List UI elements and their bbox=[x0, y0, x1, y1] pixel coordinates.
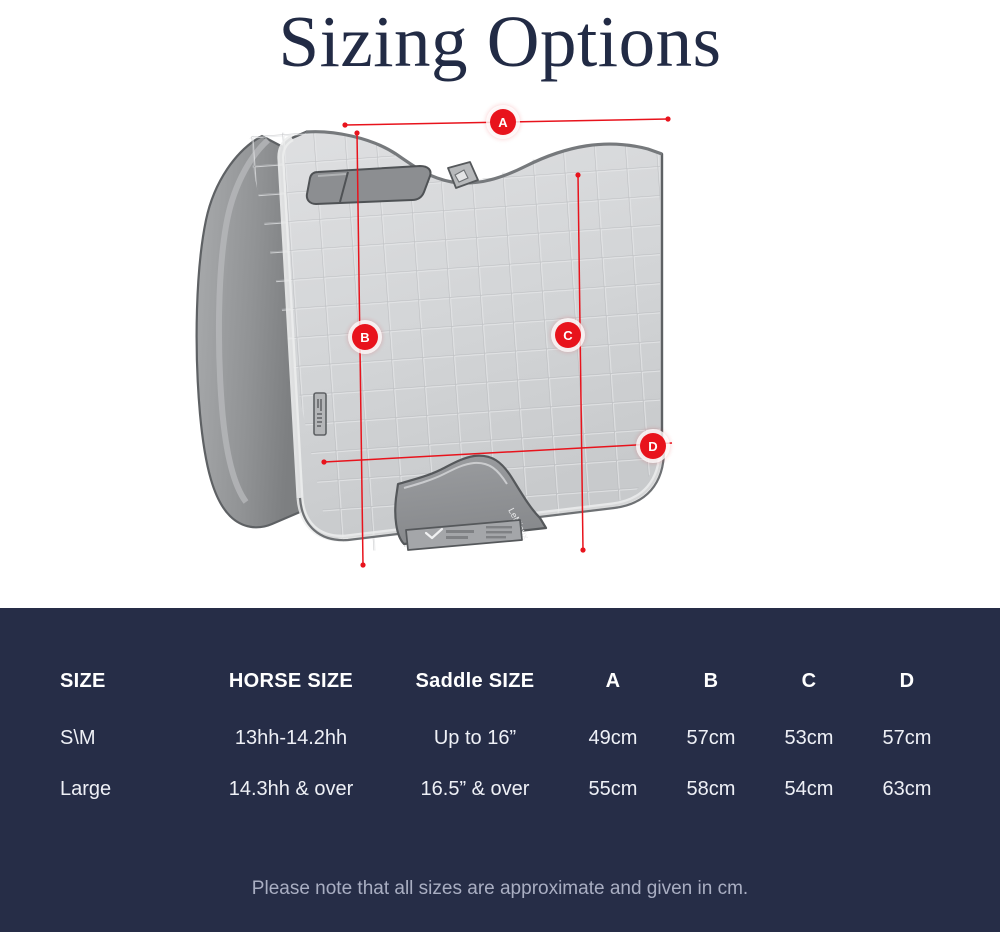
sizing-options-page: Sizing Options bbox=[0, 0, 1000, 932]
saddle-pad-drawing: LeMieux bbox=[0, 96, 1000, 608]
size-table-panel: SIZE HORSE SIZE Saddle SIZE A B C D S\M … bbox=[0, 608, 1000, 932]
page-title: Sizing Options bbox=[278, 0, 721, 84]
measurement-marker-b: B bbox=[352, 324, 378, 350]
cell-horse-size: 14.3hh & over bbox=[196, 778, 386, 829]
girth-strap-loop bbox=[307, 166, 431, 204]
cell-saddle-size: Up to 16” bbox=[386, 727, 564, 778]
column-header-size: SIZE bbox=[60, 670, 196, 727]
measurement-marker-d: D bbox=[640, 433, 666, 459]
table-header-row: SIZE HORSE SIZE Saddle SIZE A B C D bbox=[60, 670, 956, 727]
cell-saddle-size: 16.5” & over bbox=[386, 778, 564, 829]
sizing-note: Please note that all sizes are approxima… bbox=[0, 878, 1000, 900]
cell-size: Large bbox=[60, 778, 196, 829]
table-row: S\M 13hh-14.2hh Up to 16” 49cm 57cm 53cm… bbox=[60, 727, 956, 778]
edge-brand-tag bbox=[314, 393, 326, 435]
page-title-area: Sizing Options bbox=[0, 0, 1000, 96]
cell-size: S\M bbox=[60, 727, 196, 778]
cell-b: 58cm bbox=[662, 778, 760, 829]
saddle-pad-illustration: LeMieux bbox=[0, 96, 1000, 608]
table-row: Large 14.3hh & over 16.5” & over 55cm 58… bbox=[60, 778, 956, 829]
cell-horse-size: 13hh-14.2hh bbox=[196, 727, 386, 778]
cell-c: 53cm bbox=[760, 727, 858, 778]
column-header-c: C bbox=[760, 670, 858, 727]
cell-a: 55cm bbox=[564, 778, 662, 829]
measurement-marker-c: C bbox=[555, 322, 581, 348]
column-header-d: D bbox=[858, 670, 956, 727]
cell-c: 54cm bbox=[760, 778, 858, 829]
column-header-saddle-size: Saddle SIZE bbox=[386, 670, 564, 727]
column-header-b: B bbox=[662, 670, 760, 727]
cell-a: 49cm bbox=[564, 727, 662, 778]
measurement-marker-a: A bbox=[490, 109, 516, 135]
column-header-a: A bbox=[564, 670, 662, 727]
size-chart-table: SIZE HORSE SIZE Saddle SIZE A B C D S\M … bbox=[60, 670, 956, 829]
cell-d: 57cm bbox=[858, 727, 956, 778]
cell-b: 57cm bbox=[662, 727, 760, 778]
column-header-horse-size: HORSE SIZE bbox=[196, 670, 386, 727]
cell-d: 63cm bbox=[858, 778, 956, 829]
